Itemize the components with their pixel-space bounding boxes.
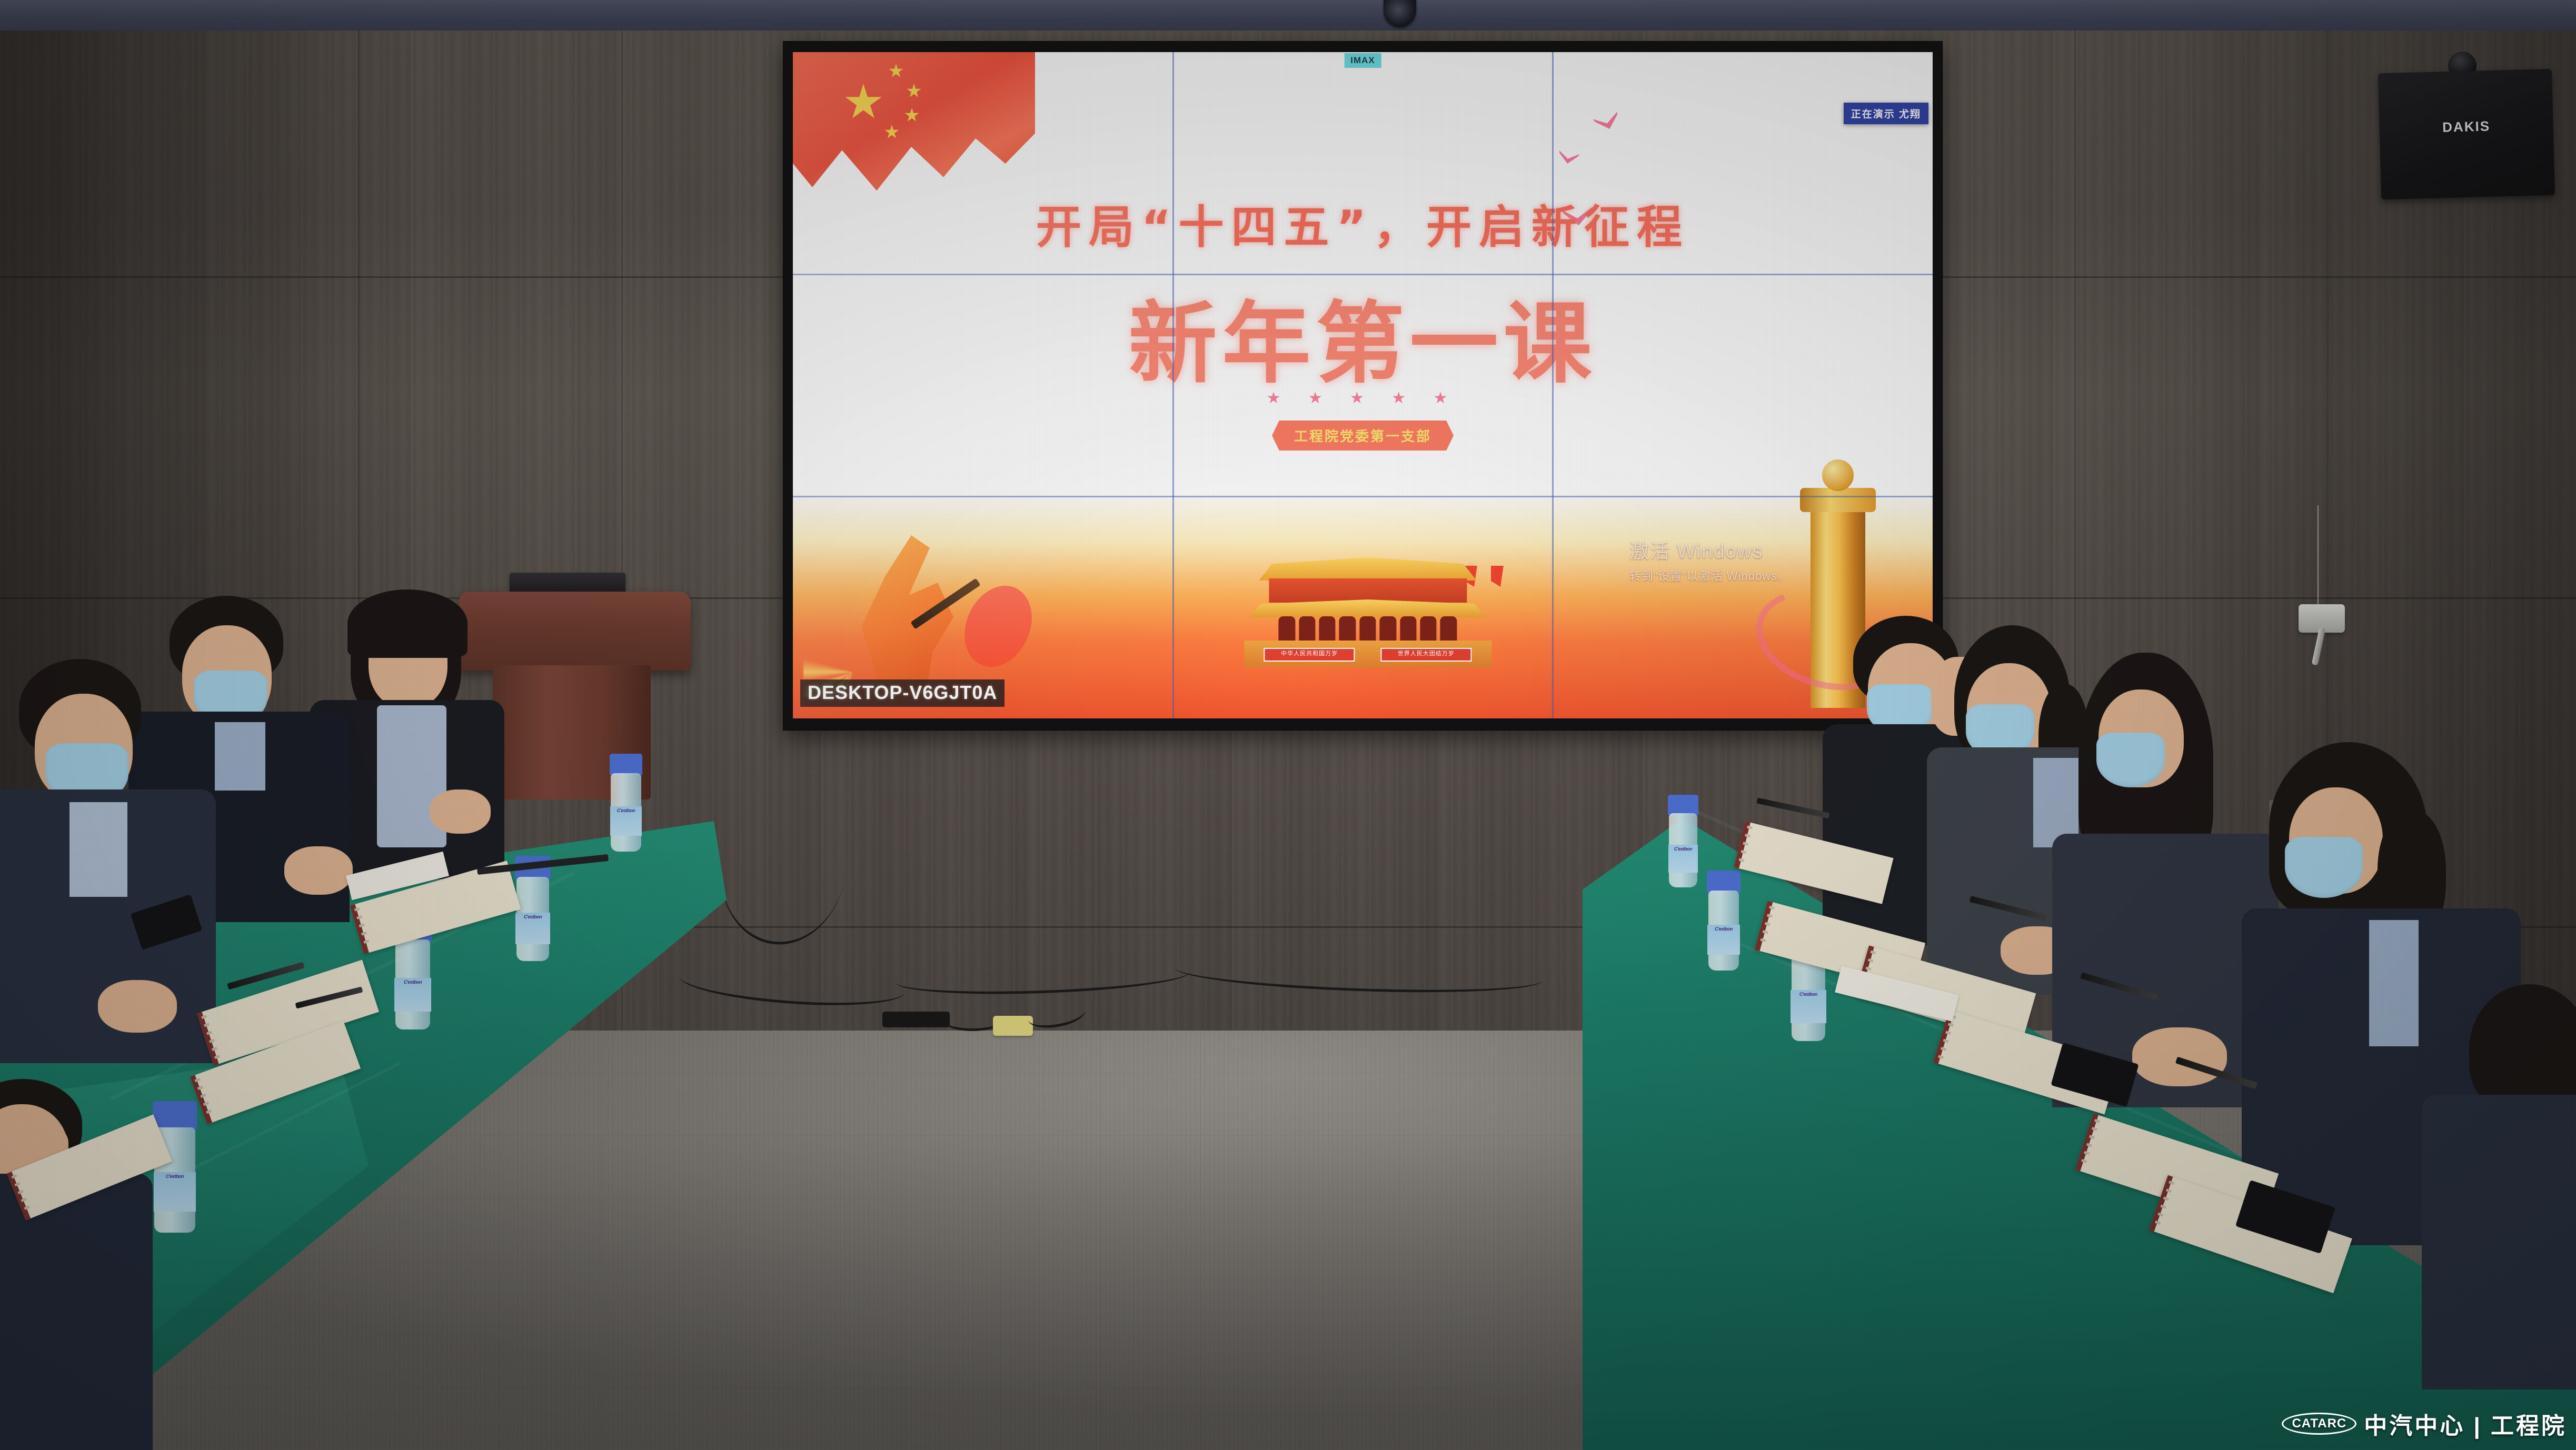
video-wall-display[interactable]: 开局“十四五”，开启新征程 新年第一课 ★ ★ ★ ★ ★ 工程院党委第一支部 <box>793 52 1933 718</box>
ceiling <box>0 0 2576 33</box>
presentation-slide: 开局“十四五”，开启新征程 新年第一课 ★ ★ ★ ★ ★ 工程院党委第一支部 <box>793 52 1933 718</box>
podium-top <box>459 592 691 671</box>
video-wall-seam <box>793 496 1933 497</box>
watermark: CATARC 中汽中心 | 工程院 <box>2282 1407 2567 1441</box>
huabiao-orb-icon <box>1822 459 1854 491</box>
water-bottle[interactable]: C'estbon <box>1707 871 1740 971</box>
watermark-text: 中汽中心 | 工程院 <box>2364 1407 2567 1441</box>
catarc-logo: CATARC <box>2282 1413 2356 1435</box>
huabiao-cap-icon <box>1800 488 1876 512</box>
slide-stars: ★ ★ ★ ★ ★ <box>793 389 1933 407</box>
dove-icon <box>1593 112 1622 133</box>
water-bottle[interactable]: C'estbon <box>1668 795 1698 887</box>
yellow-device-box <box>993 1016 1033 1036</box>
slide-main-title: 新年第一课 <box>793 272 1933 400</box>
power-adapter <box>882 1012 950 1027</box>
imax-badge: IMAX <box>1344 53 1381 68</box>
video-wall-seam <box>1172 52 1174 718</box>
dakis-speaker: DAKIS <box>2378 69 2555 200</box>
screen-share-badge[interactable]: 正在演示 尤翔 <box>1844 103 1928 124</box>
tiananmen-icon: 中华人民共和国万岁 世界人民大团结万岁 <box>1244 557 1491 668</box>
dakis-brand-label: DAKIS <box>2442 118 2491 135</box>
water-bottle[interactable]: C'estbon <box>610 754 642 852</box>
windows-activation-watermark: 激活 Windows 转到“设置”以激活 Windows。 <box>1629 535 1789 584</box>
slide-headline: 开局“十四五”，开启新征程 <box>793 190 1933 256</box>
tiananmen-banner-right: 世界人民大团结万岁 <box>1380 648 1471 662</box>
screen-motor-wire <box>2318 505 2319 608</box>
photo-scene: 开局“十四五”，开启新征程 新年第一课 ★ ★ ★ ★ ★ 工程院党委第一支部 <box>0 0 2576 1450</box>
video-wall-seam <box>793 274 1933 275</box>
video-wall[interactable]: 开局“十四五”，开启新征程 新年第一课 ★ ★ ★ ★ ★ 工程院党委第一支部 <box>783 41 1943 731</box>
tiananmen-banner-left: 中华人民共和国万岁 <box>1264 648 1355 662</box>
desktop-name-label: DESKTOP-V6GJT0A <box>800 679 1004 707</box>
video-wall-seam <box>1552 52 1554 718</box>
dove-icon <box>1557 151 1579 166</box>
slide-ribbon-badge: 工程院党委第一支部 <box>1272 421 1454 451</box>
water-bottle[interactable]: C'estbon <box>153 1101 197 1233</box>
